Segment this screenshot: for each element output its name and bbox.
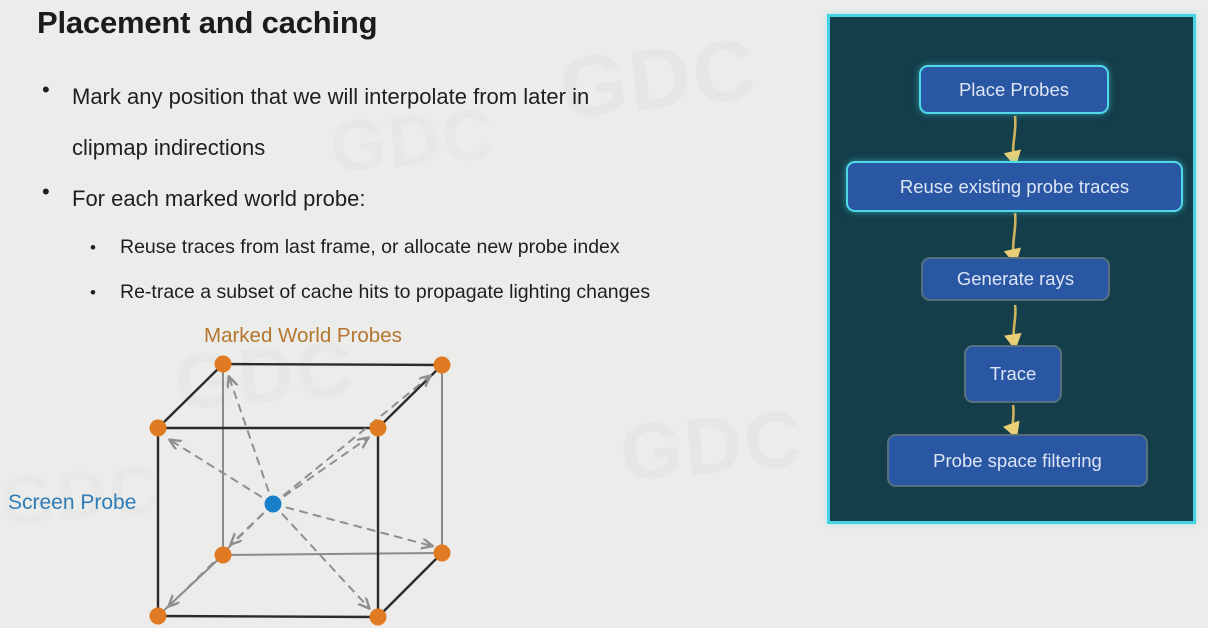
flow-node-probe-space-filtering[interactable]: Probe space filtering xyxy=(887,434,1148,487)
bullet-text: Reuse traces from last frame, or allocat… xyxy=(120,225,620,270)
cube-front-edges xyxy=(158,364,442,617)
flow-arrow-4 xyxy=(1013,405,1014,431)
bullet-item-continuation: clipmap indirections xyxy=(38,123,808,172)
probe-ray-group xyxy=(169,376,432,608)
probe-ray xyxy=(229,377,273,504)
probe-cube-diagram xyxy=(0,318,520,628)
page-title: Placement and caching xyxy=(37,5,377,41)
flow-node-label: Reuse existing probe traces xyxy=(900,176,1129,198)
marked-world-probe-dot xyxy=(215,547,232,564)
screen-probe-label: Screen Probe xyxy=(8,491,136,515)
flow-node-label: Trace xyxy=(990,363,1037,385)
bullet-marker: • xyxy=(88,225,120,270)
probe-ray xyxy=(273,504,369,608)
marked-world-probe-dot xyxy=(215,356,232,373)
flow-arrow-1 xyxy=(1013,116,1015,159)
bullet-item: • Mark any position that we will interpo… xyxy=(38,72,808,121)
flow-arrow-3 xyxy=(1014,305,1016,342)
marked-world-probe-dot xyxy=(434,357,451,374)
bullet-list: • Mark any position that we will interpo… xyxy=(38,72,808,315)
sub-bullet-item: • Re-trace a subset of cache hits to pro… xyxy=(38,270,808,315)
bullet-marker: • xyxy=(38,174,72,210)
probe-ray xyxy=(273,504,432,546)
bullet-text: clipmap indirections xyxy=(72,123,265,172)
marked-world-probe-dot xyxy=(150,608,167,625)
probe-ray xyxy=(273,376,430,504)
watermark: GDC xyxy=(616,392,807,500)
flow-node-label: Generate rays xyxy=(957,268,1074,290)
marked-world-probes-label: Marked World Probes xyxy=(204,324,402,348)
marked-world-probe-dot xyxy=(370,609,387,626)
bullet-text: Mark any position that we will interpola… xyxy=(72,72,589,121)
marked-world-probe-dot xyxy=(150,420,167,437)
flow-node-label: Probe space filtering xyxy=(933,450,1102,472)
marked-world-probe-dot xyxy=(434,545,451,562)
cube-illustration xyxy=(0,318,520,628)
slide-canvas: GDC GDC GDC GDC GDC Placement and cachin… xyxy=(0,0,1208,628)
cube-back-edges xyxy=(158,364,442,616)
probe-ray xyxy=(273,438,368,504)
flow-node-reuse-existing-probe-traces[interactable]: Reuse existing probe traces xyxy=(846,161,1183,212)
pipeline-flowchart-panel: Place Probes Reuse existing probe traces… xyxy=(827,14,1196,524)
bullet-marker: • xyxy=(38,72,72,108)
probe-ray xyxy=(170,440,273,504)
flow-node-generate-rays[interactable]: Generate rays xyxy=(921,257,1110,301)
marked-world-probe-dot xyxy=(370,420,387,437)
bullet-marker: • xyxy=(88,270,120,315)
bullet-text: For each marked world probe: xyxy=(72,174,365,223)
flow-arrow-2 xyxy=(1013,213,1015,257)
flow-node-trace[interactable]: Trace xyxy=(964,345,1062,403)
screen-probe-dot xyxy=(265,496,282,513)
flow-node-label: Place Probes xyxy=(959,79,1069,101)
bullet-text: Re-trace a subset of cache hits to propa… xyxy=(120,270,650,315)
sub-bullet-item: • Reuse traces from last frame, or alloc… xyxy=(38,225,808,270)
bullet-item: • For each marked world probe: xyxy=(38,174,808,223)
flow-node-place-probes[interactable]: Place Probes xyxy=(919,65,1109,114)
